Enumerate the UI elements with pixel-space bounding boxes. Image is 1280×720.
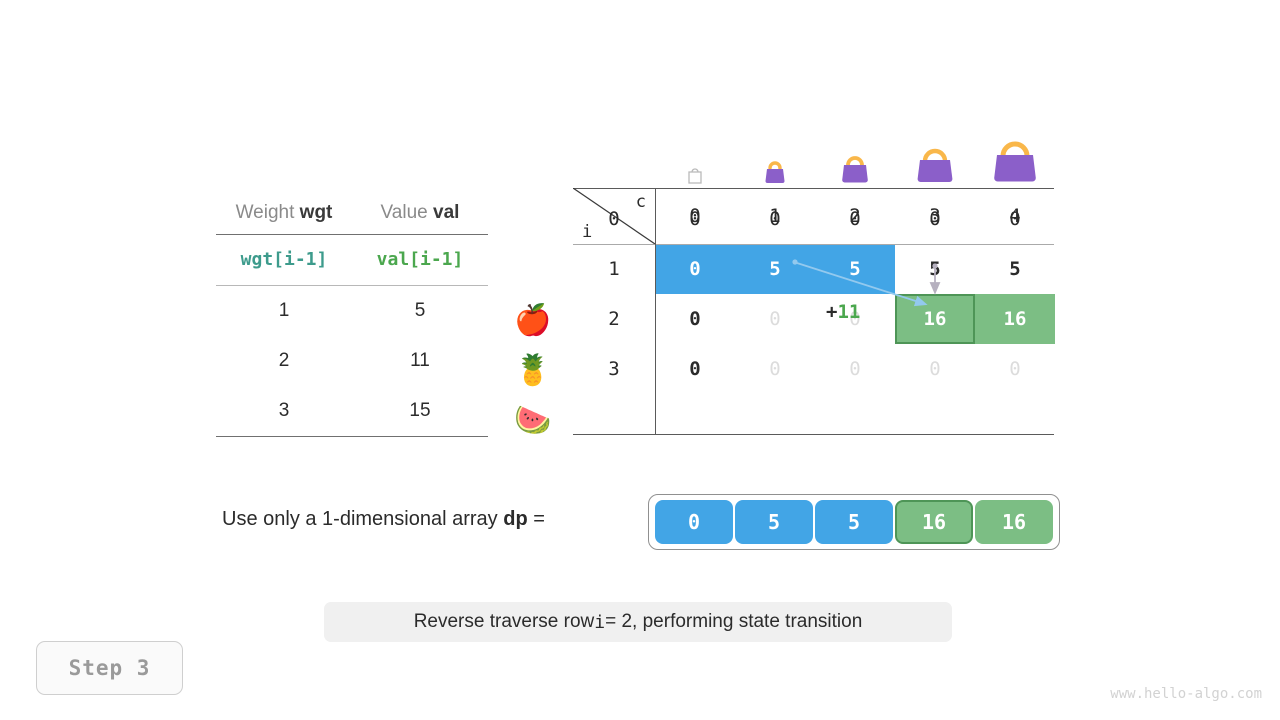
items-header-value-label: Value <box>381 202 433 223</box>
dp-array-label-equals: = <box>528 508 545 530</box>
table-row: 2 11 <box>216 336 488 386</box>
dp-cell-1-3: 5 <box>895 244 975 294</box>
dp-cell-0-2: 0 <box>815 194 895 244</box>
item-weight: 1 <box>216 300 352 322</box>
items-table-index-row: wgt[i-1] val[i-1] <box>216 235 488 285</box>
bag-medium-icon <box>815 152 895 186</box>
dp-cell-2-0: 0 <box>655 294 735 344</box>
bag-icon-row <box>573 132 1054 188</box>
items-index-value-cell: val[i-1] <box>352 249 488 271</box>
watermark: www.hello-algo.com <box>1110 686 1262 702</box>
dp-cell-1-4: 5 <box>975 244 1055 294</box>
dp-cell-1-1: 5 <box>735 244 815 294</box>
item-value: 11 <box>352 350 488 372</box>
item-weight: 2 <box>216 350 352 372</box>
items-table: Weight wgt Value val wgt[i-1] val[i-1] 1… <box>216 192 488 437</box>
items-header-weight-label: Weight <box>236 202 300 223</box>
dp-cell-3-0: 0 <box>655 344 735 394</box>
items-table-header-value: Value val <box>352 202 488 224</box>
row-label-2: 2 <box>573 294 655 344</box>
bag-xlarge-icon <box>975 136 1055 186</box>
caption-part1: Reverse traverse row <box>414 611 595 633</box>
caption-code: i <box>594 612 605 633</box>
watermelon-emoji-icon: 🍉 <box>508 396 558 446</box>
dp-cell-1-0: 0 <box>655 244 735 294</box>
dp-grid: c i 0 1 2 3 4 0 1 2 3 0 0 0 0 0 0 5 5 5 … <box>573 188 1054 447</box>
bag-small-icon <box>735 158 815 186</box>
item-value: 5 <box>352 300 488 322</box>
dp-cell-3-2: 0 <box>815 344 895 394</box>
dp-cell-2-3: 16 <box>895 294 975 344</box>
apple-emoji-icon: 🍎 <box>508 296 558 346</box>
items-header-value-code: val <box>433 202 459 223</box>
dp-cell-2-1: 0 <box>735 294 815 344</box>
dp-array-cell-4: 16 <box>975 500 1053 544</box>
table-row: 1 5 <box>216 286 488 336</box>
dp-array-label-prefix: Use only a 1-dimensional array <box>222 508 503 530</box>
row-label-1: 1 <box>573 244 655 294</box>
dp-cell-3-1: 0 <box>735 344 815 394</box>
dp-array-container: 0 5 5 16 16 <box>648 494 1060 550</box>
dp-cell-1-2: 5 <box>815 244 895 294</box>
items-table-rule-bottom <box>216 436 488 437</box>
caption-part2: = 2, performing state transition <box>605 611 862 633</box>
item-weight: 3 <box>216 400 352 422</box>
dp-cell-2-4: 16 <box>975 294 1055 344</box>
dp-array-cell-0: 0 <box>655 500 733 544</box>
dp-cell-0-4: 0 <box>975 194 1055 244</box>
dp-rule-bottom <box>573 434 1054 435</box>
dp-cell-0-0: 0 <box>655 194 735 244</box>
pineapple-emoji-icon: 🍍 <box>508 346 558 396</box>
plus-eleven-annotation: +11 <box>826 301 860 323</box>
dp-cell-0-3: 0 <box>895 194 975 244</box>
items-header-weight-code: wgt <box>300 202 333 223</box>
dp-cell-0-1: 0 <box>735 194 815 244</box>
row-label-3: 3 <box>573 344 655 394</box>
items-index-weight-cell: wgt[i-1] <box>216 249 352 271</box>
dp-array-cell-1: 5 <box>735 500 813 544</box>
caption-banner: Reverse traverse row i = 2, performing s… <box>324 602 952 642</box>
bag-large-icon <box>895 144 975 186</box>
fruit-column: 🍎 🍍 🍉 <box>508 296 558 446</box>
dp-array-cell-2: 5 <box>815 500 893 544</box>
dp-array-label-code: dp <box>503 508 527 530</box>
plus-value: 11 <box>837 301 860 323</box>
item-value: 15 <box>352 400 488 422</box>
plus-sign: + <box>826 301 837 323</box>
items-table-header-weight: Weight wgt <box>216 202 352 224</box>
dp-table: c i 0 1 2 3 4 0 1 2 3 0 0 0 0 0 0 5 5 5 … <box>573 132 1054 447</box>
dp-array-label: Use only a 1-dimensional array dp = <box>222 508 545 531</box>
bag-empty-icon <box>655 164 735 186</box>
step-badge: Step 3 <box>36 641 183 695</box>
dp-array-cell-3: 16 <box>895 500 973 544</box>
table-row: 3 15 <box>216 386 488 436</box>
dp-cell-3-3: 0 <box>895 344 975 394</box>
dp-cell-3-4: 0 <box>975 344 1055 394</box>
row-label-0: 0 <box>573 194 655 244</box>
val-index-code: val[i-1] <box>377 249 464 270</box>
items-table-header-row: Weight wgt Value val <box>216 192 488 234</box>
wgt-index-code: wgt[i-1] <box>241 249 328 270</box>
